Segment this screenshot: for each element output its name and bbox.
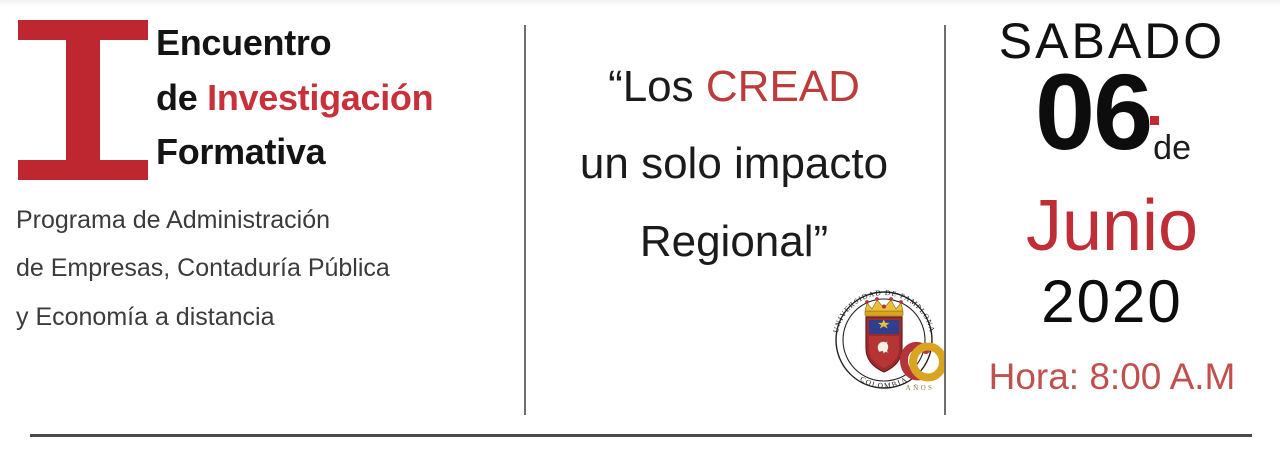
event-title: Encuentro de Investigación Formativa	[156, 16, 522, 180]
slogan-line-1: “Los CREAD	[524, 48, 944, 125]
event-title-line-3: Formativa	[156, 125, 522, 180]
slogan-line-1-plain: “Los	[608, 62, 706, 111]
bottom-rule	[30, 434, 1252, 437]
program-line-2: de Empresas, Contaduría Pública	[16, 244, 522, 292]
event-year: 2020	[944, 272, 1280, 332]
event-month: Junio	[944, 190, 1280, 262]
event-slogan: “Los CREAD un solo impacto Regional”	[524, 48, 944, 280]
event-title-line-1: Encuentro	[156, 16, 522, 71]
slogan-line-2: un solo impacto	[524, 125, 944, 202]
event-time: Hora: 8:00 A.M	[944, 358, 1280, 395]
center-column: “Los CREAD un solo impacto Regional” UNI…	[524, 0, 944, 449]
event-banner: Encuentro de Investigación Formativa Pro…	[0, 0, 1280, 449]
university-seal-icon: UNIVERSIDAD DE PAMPLONA COLOMBIA	[820, 278, 944, 402]
event-title-line-2-plain: de	[156, 77, 207, 118]
anniversary-60-mark-icon: AÑOS	[904, 346, 943, 392]
roman-numeral-one-icon	[18, 20, 148, 180]
event-title-line-2: de Investigación	[156, 71, 522, 126]
roman-one-stem	[66, 20, 100, 180]
seal-shield-icon	[866, 317, 902, 372]
program-description: Programa de Administración de Empresas, …	[16, 196, 522, 341]
event-title-line-2-accent: Investigación	[207, 77, 433, 118]
roman-one-bottom-bar	[18, 160, 148, 180]
anniversary-word: AÑOS	[906, 384, 935, 392]
event-day-number: 06	[1035, 51, 1151, 172]
program-line-1: Programa de Administración	[16, 196, 522, 244]
event-day-row: 06de	[944, 58, 1280, 166]
date-accent-dot	[1150, 116, 1159, 125]
left-column: Encuentro de Investigación Formativa Pro…	[0, 0, 524, 449]
right-column: SABADO 06de Junio 2020 Hora: 8:00 A.M	[944, 0, 1280, 449]
slogan-line-1-accent: CREAD	[706, 62, 860, 111]
event-date-connector: de	[1153, 129, 1191, 167]
program-line-3: y Economía a distancia	[16, 293, 522, 341]
slogan-line-3: Regional”	[524, 203, 944, 280]
university-seal-logo: UNIVERSIDAD DE PAMPLONA COLOMBIA	[820, 278, 944, 402]
